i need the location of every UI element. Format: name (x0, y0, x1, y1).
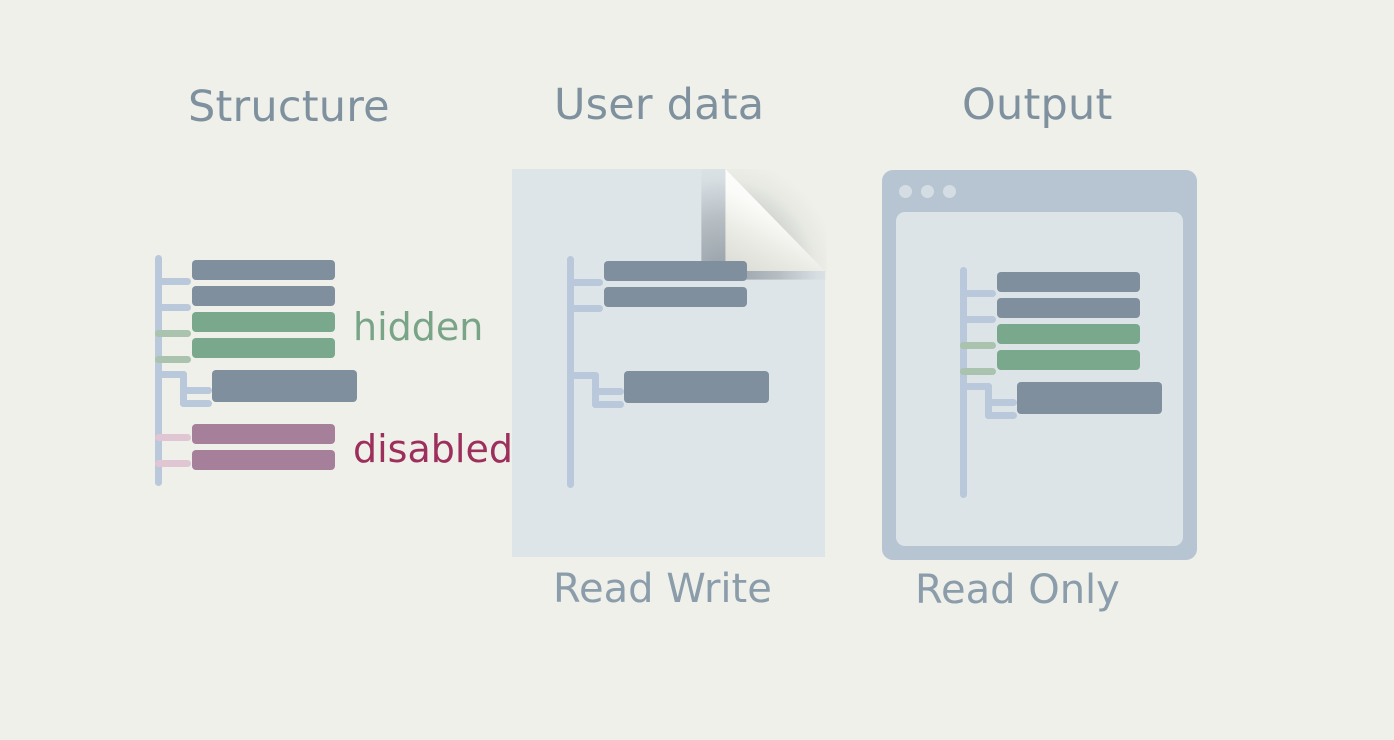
structure-row-8[interactable] (192, 450, 335, 470)
diagram-stage: Structure hidden disabled User data (0, 0, 1394, 740)
tree-stub-row-6 (592, 401, 624, 408)
tree-stub-row-2 (960, 316, 996, 323)
tree-stub-row-5 (180, 387, 212, 394)
structure-row-6[interactable] (212, 382, 357, 402)
tree-stub-row-4 (960, 368, 996, 375)
window-traffic-lights (899, 185, 956, 198)
structure-row-1[interactable] (192, 260, 335, 280)
structure-row-7[interactable] (192, 424, 335, 444)
user-data-tree (512, 169, 825, 557)
user-data-document-panel[interactable] (512, 169, 825, 557)
output-tree (896, 212, 1183, 546)
tree-stub-row-3 (155, 330, 191, 337)
tree-stub-row-6 (985, 412, 1017, 419)
tree-stub-row-1 (155, 278, 191, 285)
window-dot-minimize-icon[interactable] (921, 185, 934, 198)
user-data-column-title: User data (554, 84, 764, 127)
tree-stub-row-6 (180, 400, 212, 407)
user-data-row-1[interactable] (604, 261, 747, 281)
output-row-6[interactable] (1017, 394, 1162, 414)
structure-row-3[interactable] (192, 312, 335, 332)
structure-tree (0, 0, 560, 740)
tree-stub-row-8 (155, 460, 191, 467)
user-data-row-2[interactable] (604, 287, 747, 307)
tree-stub-row-4 (155, 356, 191, 363)
tree-stub-row-2 (567, 305, 603, 312)
output-caption: Read Only (915, 570, 1120, 610)
tree-stub-row-5 (985, 399, 1017, 406)
window-dot-maximize-icon[interactable] (943, 185, 956, 198)
tree-stub-row-1 (567, 279, 603, 286)
structure-row-4[interactable] (192, 338, 335, 358)
output-browser-window[interactable] (882, 170, 1197, 560)
structure-row-2[interactable] (192, 286, 335, 306)
output-column-title: Output (962, 84, 1113, 127)
output-row-1[interactable] (997, 272, 1140, 292)
output-row-4[interactable] (997, 350, 1140, 370)
tree-stub-row-5 (592, 388, 624, 395)
user-data-caption: Read Write (553, 569, 772, 609)
annotation-hidden: hidden (353, 308, 483, 346)
output-row-3[interactable] (997, 324, 1140, 344)
user-data-row-6[interactable] (624, 383, 769, 403)
tree-stub-row-7 (155, 434, 191, 441)
annotation-disabled: disabled (353, 430, 513, 468)
tree-stub-row-2 (155, 304, 191, 311)
window-content-area (896, 212, 1183, 546)
output-row-2[interactable] (997, 298, 1140, 318)
window-dot-close-icon[interactable] (899, 185, 912, 198)
tree-stub-row-1 (960, 290, 996, 297)
tree-stub-row-3 (960, 342, 996, 349)
